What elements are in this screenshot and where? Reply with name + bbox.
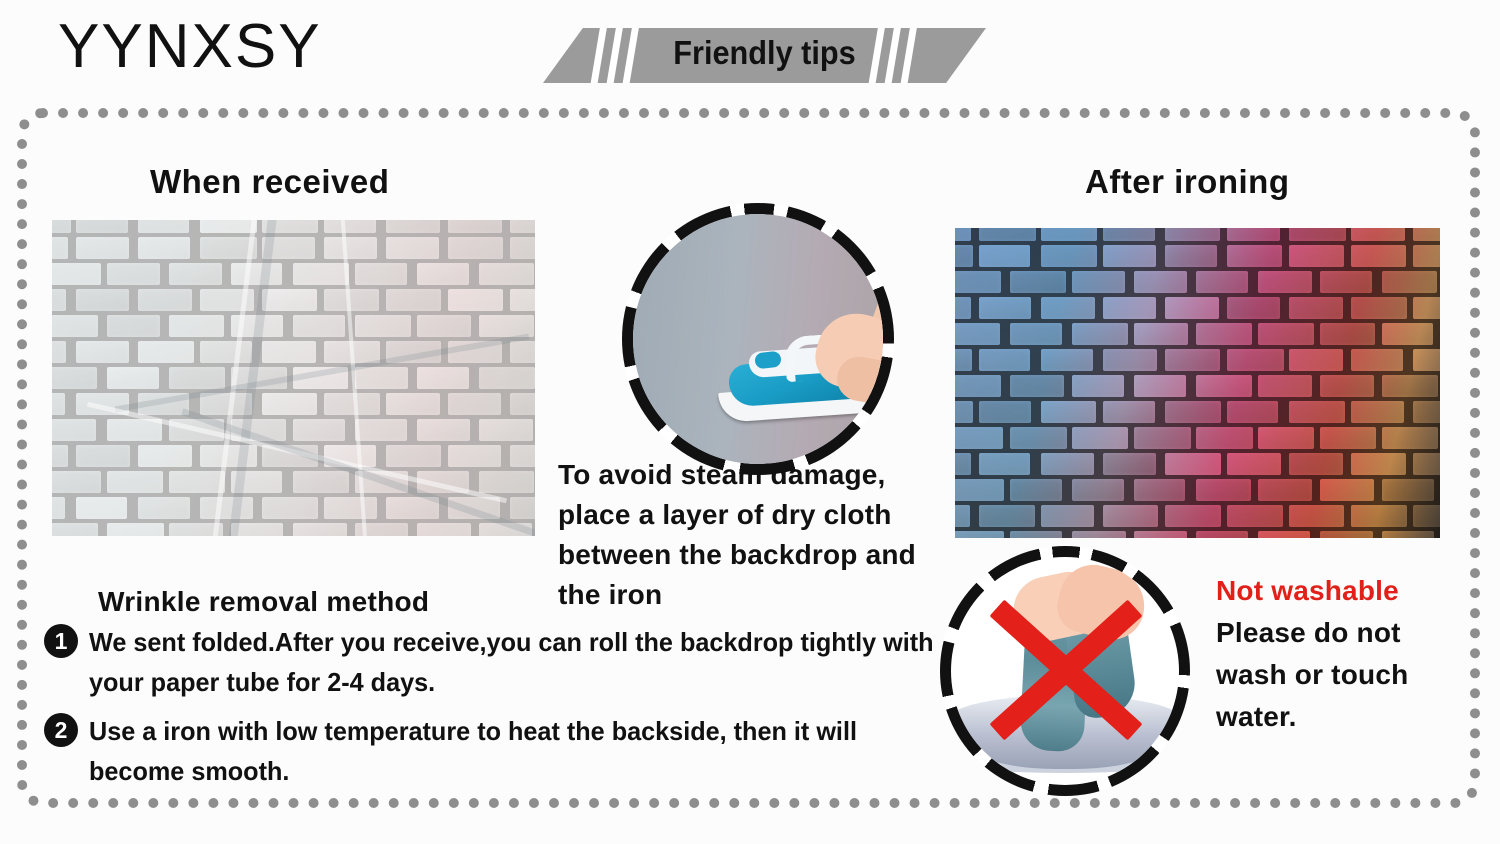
steam-damage-note: To avoid steam damage, place a layer of … (558, 455, 948, 615)
step-number-badge: 2 (44, 713, 78, 747)
circle-icon-no-wash (940, 546, 1190, 796)
list-item: 1 We sent folded.After you receive,you c… (44, 622, 964, 702)
not-washable-body: Please do not wash or touch water. (1216, 612, 1466, 738)
product-instruction-card: YYNXSY Friendly tips When received After… (0, 0, 1500, 844)
section-title-after-ironing: After ironing (1085, 163, 1289, 201)
circle-photo-ironing (622, 203, 894, 475)
not-washable-block: Not washable Please do not wash or touch… (1216, 572, 1466, 738)
header: YYNXSY Friendly tips (0, 0, 1500, 102)
iron-icon (719, 332, 883, 432)
step-number-badge: 1 (44, 624, 78, 658)
wrinkle-removal-steps: 1 We sent folded.After you receive,you c… (44, 622, 964, 800)
section-title-when-received: When received (150, 163, 389, 201)
brand-logo: YYNXSY (58, 12, 322, 82)
banner-label: Friendly tips (559, 34, 971, 72)
wrinkle-removal-title: Wrinkle removal method (98, 586, 429, 618)
step-text: Use a iron with low temperature to heat … (89, 711, 938, 791)
friendly-tips-banner: Friendly tips (543, 28, 986, 83)
color-wash-overlay (955, 228, 1440, 538)
no-wash-illustration (951, 557, 1179, 785)
image-backdrop-when-received (52, 220, 535, 536)
not-washable-title: Not washable (1216, 572, 1466, 610)
image-backdrop-after-ironing (955, 228, 1440, 538)
red-cross-icon (973, 577, 1159, 763)
step-text: We sent folded.After you receive,you can… (89, 622, 938, 702)
circle-photo-inner (633, 214, 883, 464)
list-item: 2 Use a iron with low temperature to hea… (44, 711, 964, 791)
